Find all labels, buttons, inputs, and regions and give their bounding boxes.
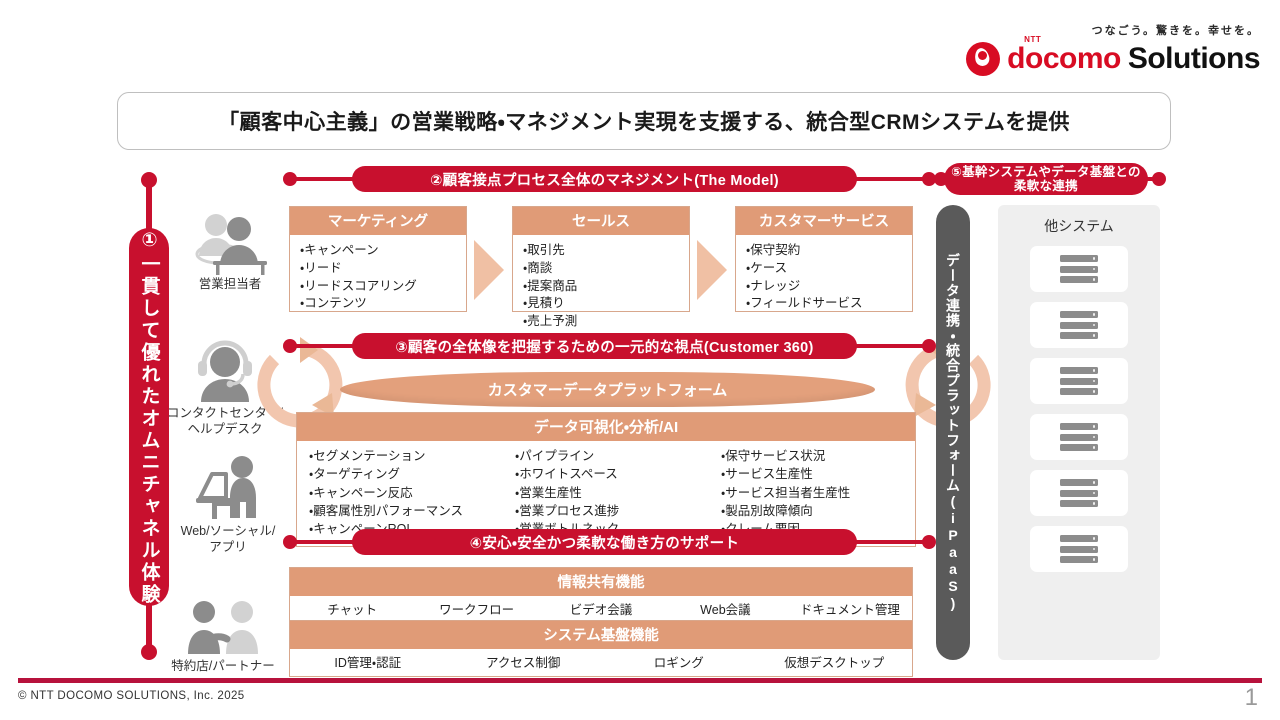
person-at-laptop-icon <box>168 450 288 522</box>
list-item: ナレッジ <box>746 278 912 296</box>
server-rack-icon <box>1060 479 1098 507</box>
persona-sales-rep: 営業担当者 <box>170 203 290 293</box>
persona-label: 特約店/パートナー <box>163 659 283 675</box>
list-item: 営業プロセス進捗 <box>515 502 709 520</box>
server-rack-icon <box>1060 367 1098 395</box>
list-item: 商談 <box>523 260 689 278</box>
system-card[interactable] <box>1030 246 1128 292</box>
analytics-column-1: セグメンテーション ターゲティング キャンペーン反応 顧客属性別パフォーマンス … <box>297 447 503 538</box>
pill5-dot-right <box>1152 172 1166 186</box>
table-row: ID管理・認証 アクセス制御 ロギング 仮想デスクトップ <box>290 649 912 676</box>
process-box-title: セールス <box>513 207 689 235</box>
list-item: キャンペーン <box>300 242 466 260</box>
list-item: ケース <box>746 260 912 278</box>
pill3-connector-left <box>290 344 360 348</box>
two-people-table-icon <box>170 203 290 275</box>
page-title-banner: 「顧客中心主義」の営業戦略・マネジメント実現を支援する、統合型CRMシステムを提… <box>117 92 1171 150</box>
persona-label: Web/ソーシャル/ アプリ <box>168 524 288 555</box>
docomo-wordmark: NTT docomo <box>1007 44 1121 74</box>
process-arrow-1-icon <box>474 240 504 300</box>
cdp-label: カスタマーデータプラットフォーム <box>488 379 728 400</box>
list-item: リード <box>300 260 466 278</box>
ipaas-bar: データ連携・統合プラットフォーム(iPaaS) <box>936 205 970 660</box>
feature-table-title: 情報共有機能 <box>290 568 912 596</box>
pill-process-management: ②顧客接点プロセス全体のマネジメント(The Model) <box>352 166 857 192</box>
table-row: チャット ワークフロー ビデオ会議 Web会議 ドキュメント管理 <box>290 596 912 623</box>
list-item: 取引先 <box>523 242 689 260</box>
solutions-text: Solutions <box>1128 44 1260 74</box>
omnichannel-pill: ①一貫して優れたオムニチャネル体験 <box>129 228 169 606</box>
list-item: 売上予測 <box>523 313 689 331</box>
list-item: 保守契約 <box>746 242 912 260</box>
handshake-people-icon <box>163 585 283 657</box>
pill5-line2: 柔軟な連携 <box>1014 179 1078 193</box>
table-cell: ロギング <box>601 652 757 671</box>
list-item: リードスコアリング <box>300 278 466 296</box>
list-item: 営業生産性 <box>515 484 709 502</box>
pill2-connector-right <box>850 177 930 181</box>
list-item: フィールドサービス <box>746 295 912 313</box>
brand-logo: つなごう。驚きを。幸せを。 NTT docomo Solutions <box>966 22 1260 76</box>
list-item: キャンペーン反応 <box>309 484 503 502</box>
process-box-sales: セールス 取引先 商談 提案商品 見積り 売上予測 <box>512 206 690 312</box>
system-card[interactable] <box>1030 526 1128 572</box>
system-card[interactable] <box>1030 414 1128 460</box>
ipaas-label: データ連携・統合プラットフォーム(iPaaS) <box>943 253 963 612</box>
feature-table-system-foundation: システム基盤機能 ID管理・認証 アクセス制御 ロギング 仮想デスクトップ <box>289 620 913 677</box>
list-item: 顧客属性別パフォーマンス <box>309 502 503 520</box>
table-cell: ドキュメント管理 <box>788 599 912 618</box>
pill4-connector-right <box>850 540 930 544</box>
pill4-connector-left <box>290 540 360 544</box>
list-item: セグメンテーション <box>309 447 503 465</box>
pill3-dot-right <box>922 339 936 353</box>
system-card[interactable] <box>1030 358 1128 404</box>
pill-customer-360: ③顧客の全体像を把握するための一元的な視点(Customer 360) <box>352 333 857 359</box>
list-item: サービス担当者生産性 <box>721 484 915 502</box>
list-item: 保守サービス状況 <box>721 447 915 465</box>
list-item: コンテンツ <box>300 295 466 313</box>
list-item: パイプライン <box>515 447 709 465</box>
page-number: 1 <box>1245 684 1258 712</box>
table-cell: ID管理・認証 <box>290 652 446 671</box>
table-cell: Web会議 <box>663 599 787 618</box>
pill4-dot-right <box>922 535 936 549</box>
process-box-customer-service: カスタマーサービス 保守契約 ケース ナレッジ フィールドサービス <box>735 206 913 312</box>
persona-label-line1: Web/ソーシャル/ <box>181 524 276 538</box>
process-box-list: 保守契約 ケース ナレッジ フィールドサービス <box>736 235 912 313</box>
system-card[interactable] <box>1030 302 1128 348</box>
persona-label: 営業担当者 <box>170 277 290 293</box>
analytics-title: データ可視化・分析/AI <box>297 413 915 441</box>
table-cell: チャット <box>290 599 414 618</box>
persona-web-social-app: Web/ソーシャル/ アプリ <box>168 450 288 555</box>
pill5-line1: ⑤基幹システムやデータ基盤との <box>951 165 1141 179</box>
ntt-label: NTT <box>1024 35 1041 44</box>
list-item: ターゲティング <box>309 465 503 483</box>
list-item: サービス生産性 <box>721 465 915 483</box>
table-cell: ビデオ会議 <box>539 599 663 618</box>
pill2-connector-left <box>290 177 360 181</box>
docomo-text: docomo <box>1007 42 1121 75</box>
persona-partner: 特約店/パートナー <box>163 585 283 675</box>
list-item: 見積り <box>523 295 689 313</box>
table-cell: 仮想デスクトップ <box>757 652 913 671</box>
process-arrow-2-icon <box>697 240 727 300</box>
analytics-column-2: パイプライン ホワイトスペース 営業生産性 営業プロセス進捗 営業ボトルネック <box>503 447 709 538</box>
analytics-column-3: 保守サービス状況 サービス生産性 サービス担当者生産性 製品別故障傾向 クレーム… <box>709 447 915 538</box>
server-rack-icon <box>1060 423 1098 451</box>
server-rack-icon <box>1060 535 1098 563</box>
customer-data-platform-bar: カスタマーデータプラットフォーム <box>340 372 875 407</box>
list-item: 提案商品 <box>523 278 689 296</box>
persona-label-line2: アプリ <box>209 540 247 554</box>
table-cell: ワークフロー <box>414 599 538 618</box>
server-rack-icon <box>1060 311 1098 339</box>
pill3-connector-right <box>850 344 930 348</box>
feature-table-info-sharing: 情報共有機能 チャット ワークフロー ビデオ会議 Web会議 ドキュメント管理 <box>289 567 913 624</box>
docomo-mark-icon <box>966 42 1000 76</box>
table-cell: アクセス制御 <box>446 652 602 671</box>
feature-table-title: システム基盤機能 <box>290 621 912 649</box>
brand-tagline: つなごう。驚きを。幸せを。 <box>966 22 1260 38</box>
other-systems-grid <box>998 236 1160 572</box>
copyright-text: © NTT DOCOMO SOLUTIONS, Inc. 2025 <box>18 690 245 702</box>
footer-divider <box>18 678 1262 683</box>
process-box-marketing: マーケティング キャンペーン リード リードスコアリング コンテンツ <box>289 206 467 312</box>
pill-secure-flexible-work: ④安心・安全かつ柔軟な働き方のサポート <box>352 529 857 555</box>
other-systems-caption: 他システム <box>998 205 1160 236</box>
other-systems-panel: 他システム <box>998 205 1160 660</box>
page-title: 「顧客中心主義」の営業戦略・マネジメント実現を支援する、統合型CRMシステムを提… <box>218 106 1070 136</box>
process-box-title: マーケティング <box>290 207 466 235</box>
axis-dot-top <box>141 172 157 188</box>
list-item: ホワイトスペース <box>515 465 709 483</box>
system-card[interactable] <box>1030 470 1128 516</box>
axis-dot-bottom <box>141 644 157 660</box>
omnichannel-label: ①一貫して優れたオムニチャネル体験 <box>136 229 163 606</box>
analytics-block: データ可視化・分析/AI セグメンテーション ターゲティング キャンペーン反応 … <box>296 412 916 547</box>
pill-system-integration: ⑤基幹システムやデータ基盤との 柔軟な連携 <box>944 163 1148 195</box>
process-box-title: カスタマーサービス <box>736 207 912 235</box>
process-box-list: キャンペーン リード リードスコアリング コンテンツ <box>290 235 466 313</box>
process-box-list: 取引先 商談 提案商品 見積り 売上予測 <box>513 235 689 331</box>
server-rack-icon <box>1060 255 1098 283</box>
list-item: 製品別故障傾向 <box>721 502 915 520</box>
